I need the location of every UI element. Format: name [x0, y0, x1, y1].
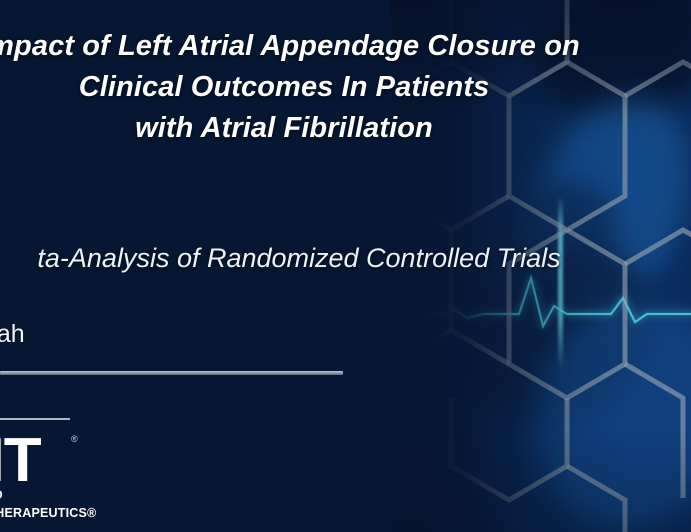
title-line-1: mpact of Left Atrial Appendage Closure o…: [0, 26, 664, 67]
slide-title: mpact of Left Atrial Appendage Closure o…: [0, 26, 664, 150]
logo-tagline-line-2: AILURE THERAPEUTICS®: [0, 506, 96, 520]
logo-top-rule: [0, 418, 70, 420]
logo-registered-icon: ®: [71, 434, 78, 444]
slide-subtitle: ta-Analysis of Randomized Controlled Tri…: [0, 243, 691, 274]
divider-rule: [0, 371, 343, 375]
author-name: Darkwah: [0, 320, 25, 349]
logo-tagline-line-1: LOGY AND: [0, 488, 3, 502]
title-slide: mpact of Left Atrial Appendage Closure o…: [0, 0, 691, 532]
logo-wordmark: HT: [0, 430, 41, 492]
slide-content: mpact of Left Atrial Appendage Closure o…: [0, 0, 691, 532]
title-line-3: with Atrial Fibrillation: [0, 108, 664, 149]
title-line-2: Clinical Outcomes In Patients: [0, 67, 664, 108]
